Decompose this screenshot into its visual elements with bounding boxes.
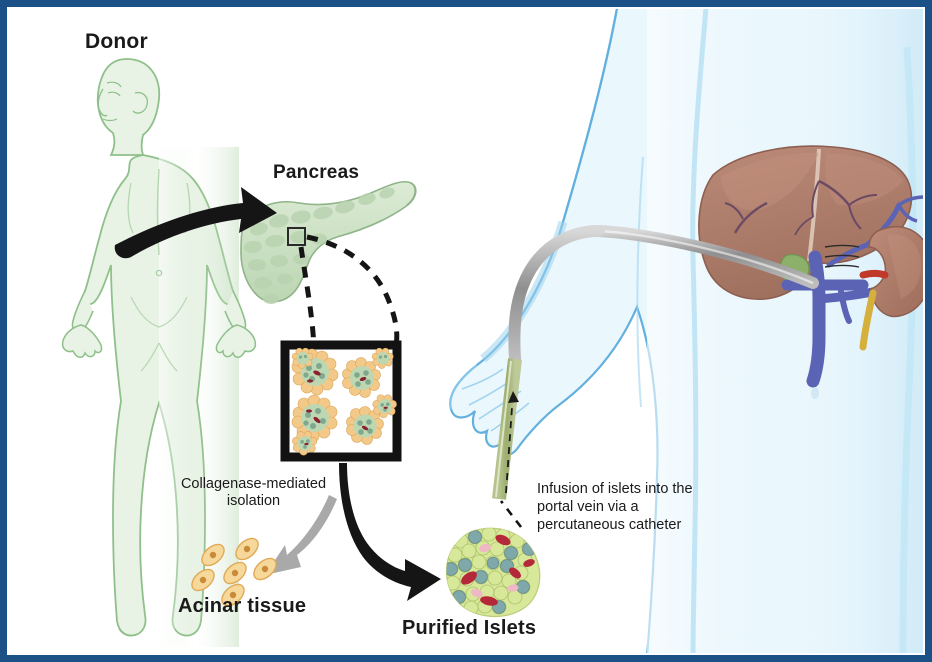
purified-islets-label: Purified Islets	[402, 617, 536, 641]
micrograph-box	[285, 345, 397, 457]
donor-figure	[63, 59, 256, 647]
pancreas-label: Pancreas	[273, 162, 359, 184]
illustration-canvas: Donor Pancreas Collagenase-mediated isol…	[7, 7, 925, 655]
donor-label: Donor	[85, 30, 148, 55]
figure-panel: Donor Pancreas Collagenase-mediated isol…	[0, 0, 932, 662]
collagenase-isolation-label: Collagenase-mediated isolation	[171, 476, 336, 510]
dashed-infusion-link	[501, 501, 521, 527]
purified-islet-sphere	[444, 527, 540, 616]
illustration-svg	[7, 7, 925, 655]
infusion-caption: Infusion of islets into the portal vein …	[537, 480, 697, 534]
acinar-tissue-label: Acinar tissue	[178, 595, 306, 619]
